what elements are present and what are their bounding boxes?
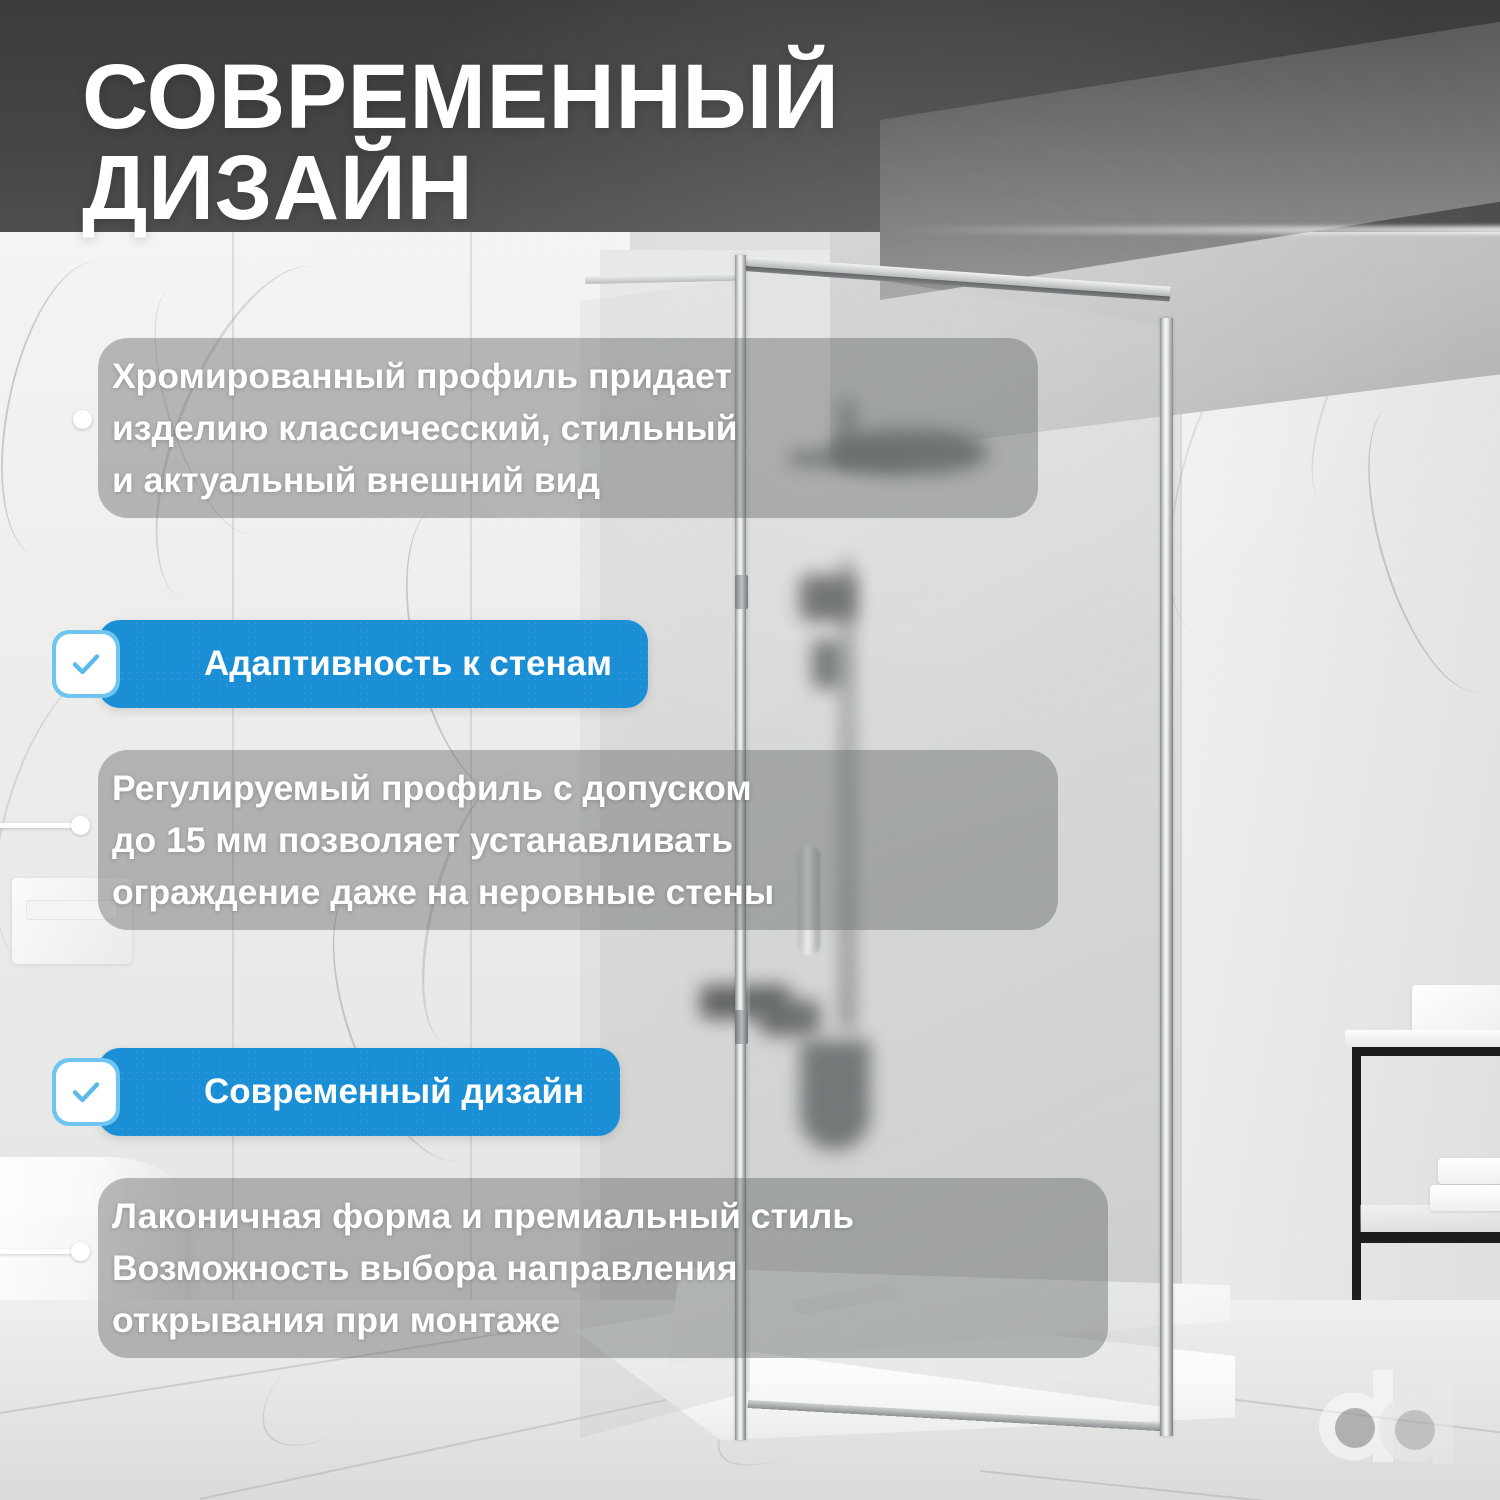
shelf-middle-rail [1355, 1232, 1500, 1243]
checkbox-outer [52, 630, 120, 698]
checkbox-inner [56, 634, 116, 694]
feature-text-chrome-profile: Хромированный профиль придает изделию кл… [112, 350, 1012, 507]
badge-wall-adaptivity[interactable]: Адаптивность к стенам [98, 620, 648, 708]
towel [1430, 1185, 1500, 1211]
checkbox-outer [52, 1058, 120, 1126]
badge-modern-design[interactable]: Современный дизайн [98, 1048, 620, 1136]
badge-label-wall-adaptivity: Адаптивность к стенам [204, 644, 612, 684]
chrome-profile-vertical-right [1160, 318, 1173, 1436]
connector-line [0, 823, 74, 828]
bullet-dot-icon [73, 410, 92, 429]
page-title: СОВРЕМЕННЫЙ ДИЗАЙН [82, 52, 839, 234]
infographic-canvas: СОВРЕМЕННЫЙ ДИЗАЙН Хромированный профиль… [0, 0, 1500, 1500]
dd-logo-icon [1315, 1362, 1490, 1482]
checkmark-icon [66, 644, 106, 684]
watermark-logo [1315, 1362, 1490, 1482]
bullet-dot-icon [71, 816, 90, 835]
towel [1438, 1158, 1500, 1184]
shelf-top-surface [1345, 1030, 1500, 1048]
checkbox-inner [56, 1062, 116, 1122]
bullet-dot-icon [71, 1242, 90, 1261]
door-hinge-upper [735, 575, 748, 609]
checkmark-icon [66, 1072, 106, 1112]
connector-line [0, 1249, 74, 1254]
ceiling-light-strip [900, 226, 1500, 234]
feature-text-wall-adaptivity: Регулируемый профиль с допуском до 15 мм… [112, 762, 1042, 919]
feature-text-modern-design: Лаконичная форма и премиальный стиль Воз… [112, 1190, 1102, 1347]
badge-label-modern-design: Современный дизайн [204, 1072, 584, 1112]
door-hinge-lower [735, 1010, 748, 1044]
